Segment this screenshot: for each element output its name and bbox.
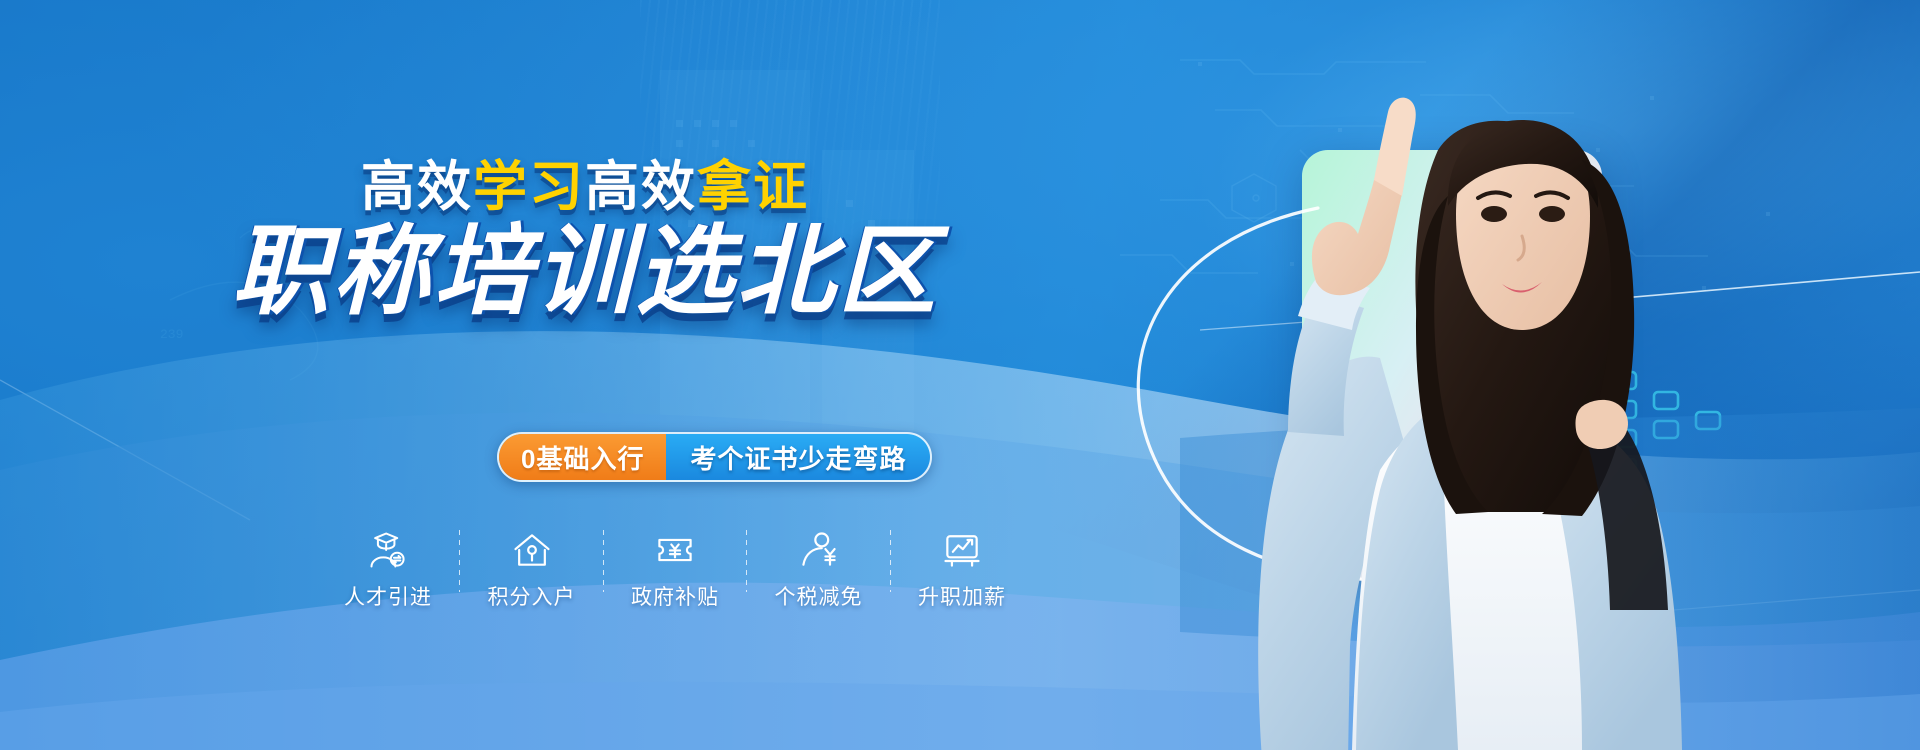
coupon-yuan-icon	[653, 528, 697, 572]
feature-item-tax[interactable]: 个税减免	[761, 528, 877, 611]
headline-sub-part-4: 拿证	[697, 157, 809, 217]
tagline-pill[interactable]: 0基础入行 考个证书少走弯路	[497, 432, 932, 482]
feature-item-talent[interactable]: 人才引进	[330, 528, 446, 611]
feature-divider	[459, 530, 460, 592]
feature-item-subsidy[interactable]: 政府补贴	[617, 528, 733, 611]
copy-block: 高效学习高效拿证 职称培训选北区 0基础入行 考个证书少走弯路	[0, 0, 1170, 750]
growth-chart-icon	[940, 528, 984, 572]
promo-banner: 239	[0, 0, 1920, 750]
feature-label: 升职加薪	[918, 581, 1006, 611]
feature-label: 积分入户	[488, 581, 576, 611]
headline-sub-part-3: 高效	[585, 157, 697, 217]
person-photo	[1112, 0, 1752, 750]
house-pin-icon	[510, 528, 554, 572]
person-yuan-icon	[797, 528, 841, 572]
headline-sub-part-2: 学习	[473, 157, 585, 217]
feature-label: 个税减免	[775, 581, 863, 611]
tagline-pill-right: 考个证书少走弯路	[666, 434, 930, 480]
headline-sub: 高效学习高效拿证	[0, 160, 1170, 214]
feature-divider	[746, 530, 747, 592]
feature-label: 政府补贴	[631, 581, 719, 611]
feature-divider	[890, 530, 891, 592]
headline-sub-part-1: 高效	[361, 157, 473, 217]
feature-divider	[603, 530, 604, 592]
hero-figure	[1112, 0, 1752, 750]
graduate-person-icon	[366, 528, 410, 572]
headline-main-marked: 选	[635, 222, 736, 320]
feature-list: 人才引进 积分入户	[330, 528, 1020, 611]
headline-main: 职称培训选北区	[0, 222, 1170, 320]
feature-item-residency[interactable]: 积分入户	[474, 528, 590, 611]
feature-item-promotion[interactable]: 升职加薪	[904, 528, 1020, 611]
headline-main-after: 北区	[737, 216, 939, 326]
tagline-pill-left: 0基础入行	[499, 434, 666, 480]
feature-label: 人才引进	[344, 581, 432, 611]
headline-main-before: 职称培训	[231, 216, 635, 326]
